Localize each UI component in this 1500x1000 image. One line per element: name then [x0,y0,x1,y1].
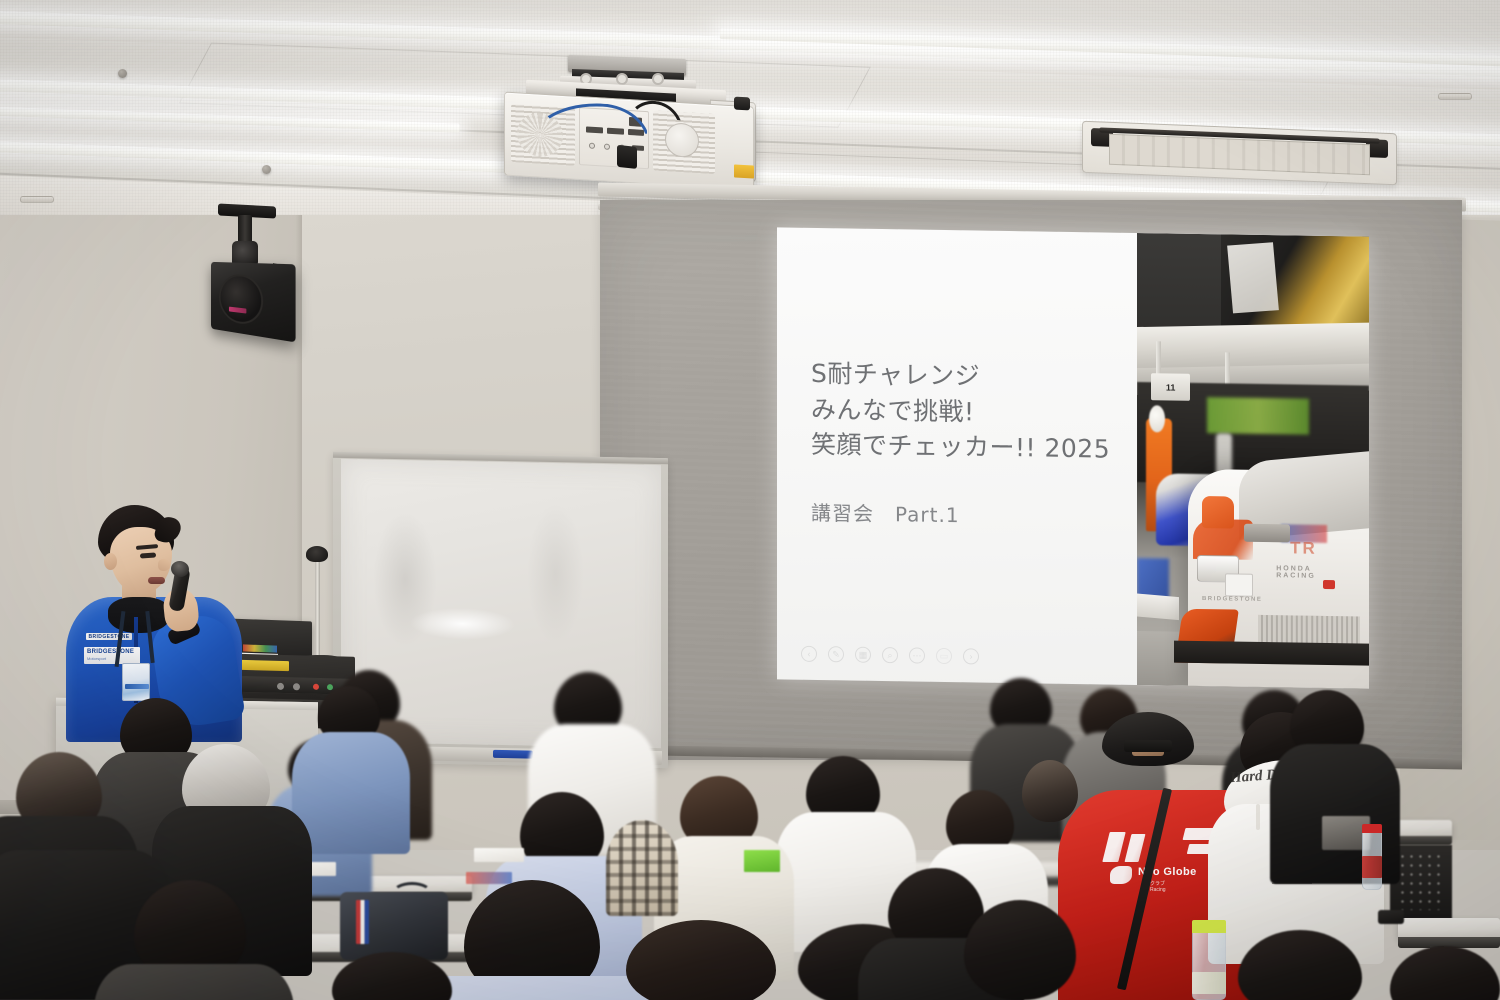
projector-adjust-knob [652,73,664,85]
projector-adjust-knob [616,73,628,85]
pit-marshal-helmet [1149,405,1165,432]
previous-slide-icon[interactable]: ‹ [801,646,817,662]
jacket-sponsor-tagline: Motorsport [84,655,140,661]
torso [606,820,678,916]
pit-equipment-green [1207,397,1309,435]
bottle-cap [1192,920,1226,933]
torso [94,964,294,1000]
desk-panel-perforation [1398,852,1444,910]
ceiling-projector [498,57,760,192]
cap-strap [1124,740,1172,752]
jacket-subtext: クラブ Racing [1150,880,1166,893]
speaker-cabinet [211,262,296,343]
id-badge [122,663,150,701]
microphone-stand [315,548,320,670]
jacket-sponsor-name: BRIDGESTONE [84,647,140,655]
jacket-brand-logo: BRIDGESTONE [86,633,132,640]
microphone-stand-head [306,546,328,562]
ceiling-speaker [196,205,306,340]
whiteboard-eraser[interactable] [493,750,533,759]
pit-box-number: 11 [1166,382,1176,392]
color-strip-object [243,644,277,652]
track-kerb-white [1137,593,1179,619]
race-car-brand-text: HONDA RACING [1276,565,1355,589]
colored-handout [466,872,512,884]
bottle-label [1362,856,1382,878]
desk [1398,918,1500,939]
race-car-mirror [1202,496,1234,528]
pit-box-sign: 11 [1151,373,1190,401]
hoodie-drawstring [1256,804,1260,830]
av-led-green [327,684,333,690]
presenter-nose [158,559,170,571]
slide-navigator-icon[interactable]: ▦ [855,647,871,663]
projector-warning-label [734,164,754,178]
smoke-detector-icon [262,165,271,174]
av-led-red [313,684,319,690]
handout-on-desk [474,848,524,862]
menu-icon[interactable]: ⋯ [909,647,925,663]
race-car-hood-vent [1244,524,1290,543]
bottle-cap [1362,824,1382,833]
speaker-driver-cone [219,273,263,326]
race-car-number-plate [1225,573,1253,596]
phone-on-desk [1378,910,1404,924]
seminar-room-photo: S耐チャレンジ みんなで挑戦! 笑顔でチェッカー!! 2025 講習会 Part… [0,0,1500,1000]
presenter-mouth [148,577,165,584]
fluorescent-light [0,106,460,133]
backpack-handle [392,882,432,904]
fluorescent-light [720,28,1500,67]
jacket-sponsor-logo: BRIDGESTONE Motorsport [84,647,140,664]
head [964,900,1076,1000]
av-knob[interactable] [293,683,300,690]
projector-focus-knob [734,97,750,111]
projected-slide: S耐チャレンジ みんなで挑戦! 笑顔でチェッカー!! 2025 講習会 Part… [777,227,1369,688]
presenter-ear [104,553,117,570]
pit-banner-white [1227,242,1279,313]
honda-badge-icon [1323,579,1335,588]
smoke-detector-icon [118,69,127,78]
slide-text-column: S耐チャレンジ みんなで挑戦! 笑顔でチェッカー!! 2025 講習会 Part… [777,227,1137,685]
av-knob[interactable] [277,683,284,690]
green-handout [744,850,780,872]
presenter-collar [108,597,170,633]
ceiling-fixture-plate [1438,93,1472,100]
pen-icon[interactable]: ✎ [828,646,844,662]
head [1022,760,1078,822]
bottle-label [1192,972,1226,994]
slideshow-toolbar[interactable]: ‹ ✎ ▦ ⌕ ⋯ ▭ › [801,646,979,665]
slide-subtitle: 講習会 Part.1 [811,496,1137,530]
camera-icon[interactable]: ▭ [936,648,952,664]
zoom-icon[interactable]: ⌕ [882,647,898,663]
jacket-logo-mark [1110,866,1132,884]
head [1390,946,1500,1000]
race-car-lower-shadow [1174,640,1369,666]
whiteboard-shadow [527,502,585,645]
slide-title: S耐チャレンジ みんなで挑戦! 笑顔でチェッカー!! 2025 [811,356,1137,468]
next-slide-icon[interactable]: › [963,648,979,664]
backpack-stripe [356,900,369,944]
projector-connector-block [617,145,637,169]
slide-photo: 11 TR HONDA RACING BRIDGESTONE [1137,233,1369,689]
id-badge-stripe [125,684,149,689]
whiteboard-glare [411,607,513,640]
ceiling-fixture-plate [20,196,54,203]
